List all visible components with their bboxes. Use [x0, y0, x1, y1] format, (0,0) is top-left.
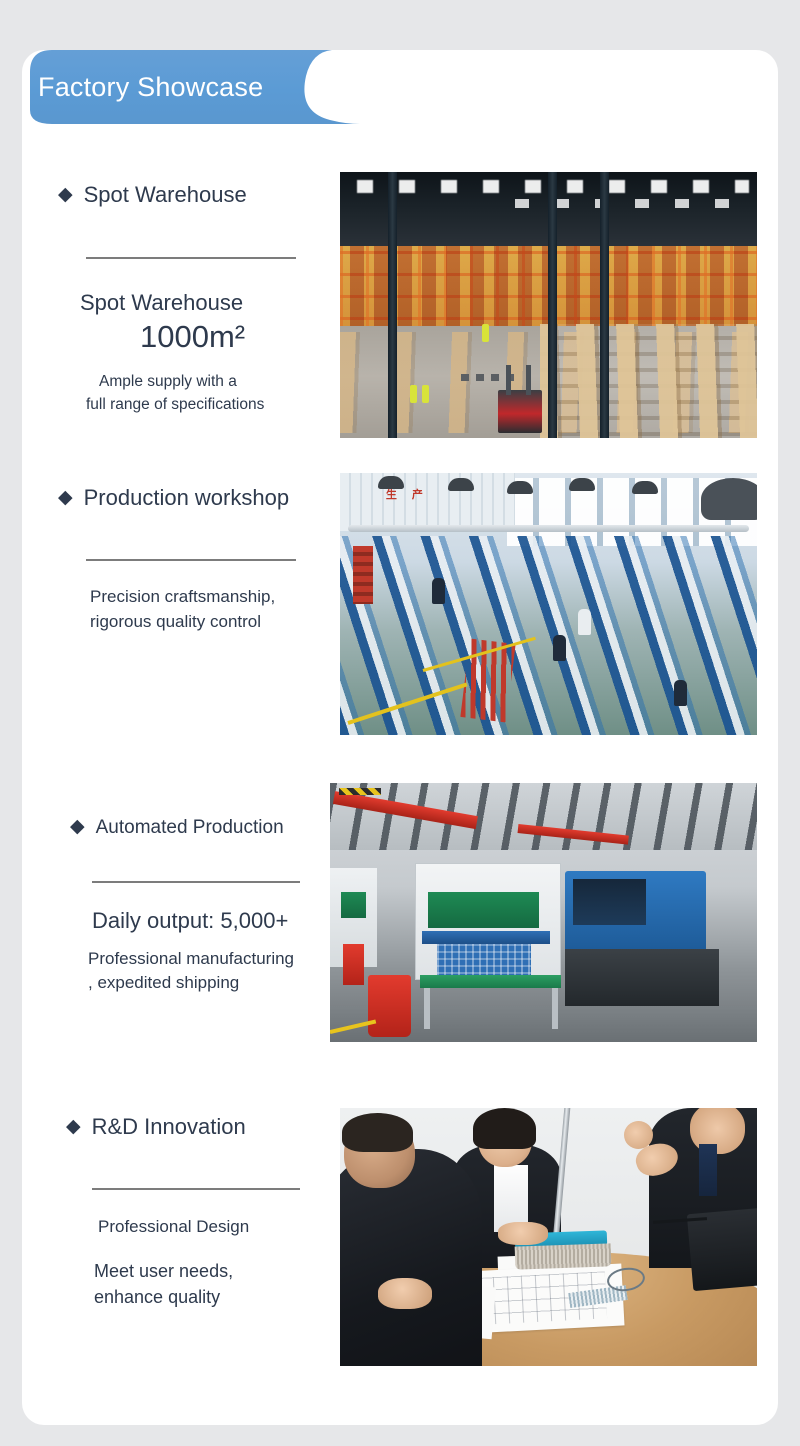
section-1-heading: ◆ Spot Warehouse: [58, 184, 296, 206]
section-4-desc-line-1: Meet user needs,: [94, 1258, 300, 1284]
section-automated-production: ◆ Automated Production Daily output: 5,0…: [70, 818, 300, 996]
section-1-desc-line-1: Ample supply with a: [99, 371, 296, 393]
section-3-title: Automated Production: [96, 818, 284, 837]
page-title: Factory Showcase: [38, 74, 263, 101]
production-workshop-photo: 生 产: [340, 473, 757, 735]
diamond-bullet-icon: ◆: [58, 488, 73, 507]
section-3-desc-line-2: , expedited shipping: [88, 971, 300, 996]
section-4-divider: [92, 1188, 300, 1190]
section-2-divider: [86, 559, 296, 561]
section-1-metric: 1000m²: [140, 319, 296, 356]
section-2-title: Production workshop: [84, 487, 289, 509]
section-3-headline: Daily output: 5,000+: [92, 908, 300, 935]
section-production-workshop: ◆ Production workshop Precision craftsma…: [58, 487, 296, 634]
section-2-desc-line-2: rigorous quality control: [90, 610, 296, 635]
section-1-desc-line-2: full range of specifications: [86, 394, 296, 416]
section-2-desc-line-1: Precision craftsmanship,: [90, 585, 296, 610]
automated-production-photo: [330, 783, 757, 1042]
section-2-heading: ◆ Production workshop: [58, 487, 296, 509]
section-4-heading: ◆ R&D Innovation: [66, 1116, 300, 1138]
factory-showcase-page: Factory Showcase ◆ Spot Warehouse Spot W…: [0, 0, 800, 1446]
section-3-heading: ◆ Automated Production: [70, 818, 300, 837]
section-3-desc-line-1: Professional manufacturing: [88, 947, 300, 972]
section-rnd-innovation: ◆ R&D Innovation Professional Design Mee…: [66, 1116, 300, 1310]
diamond-bullet-icon: ◆: [70, 817, 85, 836]
spot-warehouse-photo: [340, 172, 757, 438]
rnd-innovation-photo: [340, 1108, 757, 1366]
section-4-headline: Professional Design: [98, 1215, 300, 1240]
diamond-bullet-icon: ◆: [58, 185, 73, 204]
section-spot-warehouse: ◆ Spot Warehouse Spot Warehouse 1000m² A…: [58, 184, 296, 416]
section-1-headline: Spot Warehouse: [80, 290, 296, 317]
section-1-divider: [86, 257, 296, 259]
diamond-bullet-icon: ◆: [66, 1117, 81, 1136]
section-1-title: Spot Warehouse: [84, 184, 247, 206]
section-3-divider: [92, 881, 300, 883]
section-4-title: R&D Innovation: [92, 1116, 246, 1138]
section-4-desc-line-2: enhance quality: [94, 1284, 300, 1310]
